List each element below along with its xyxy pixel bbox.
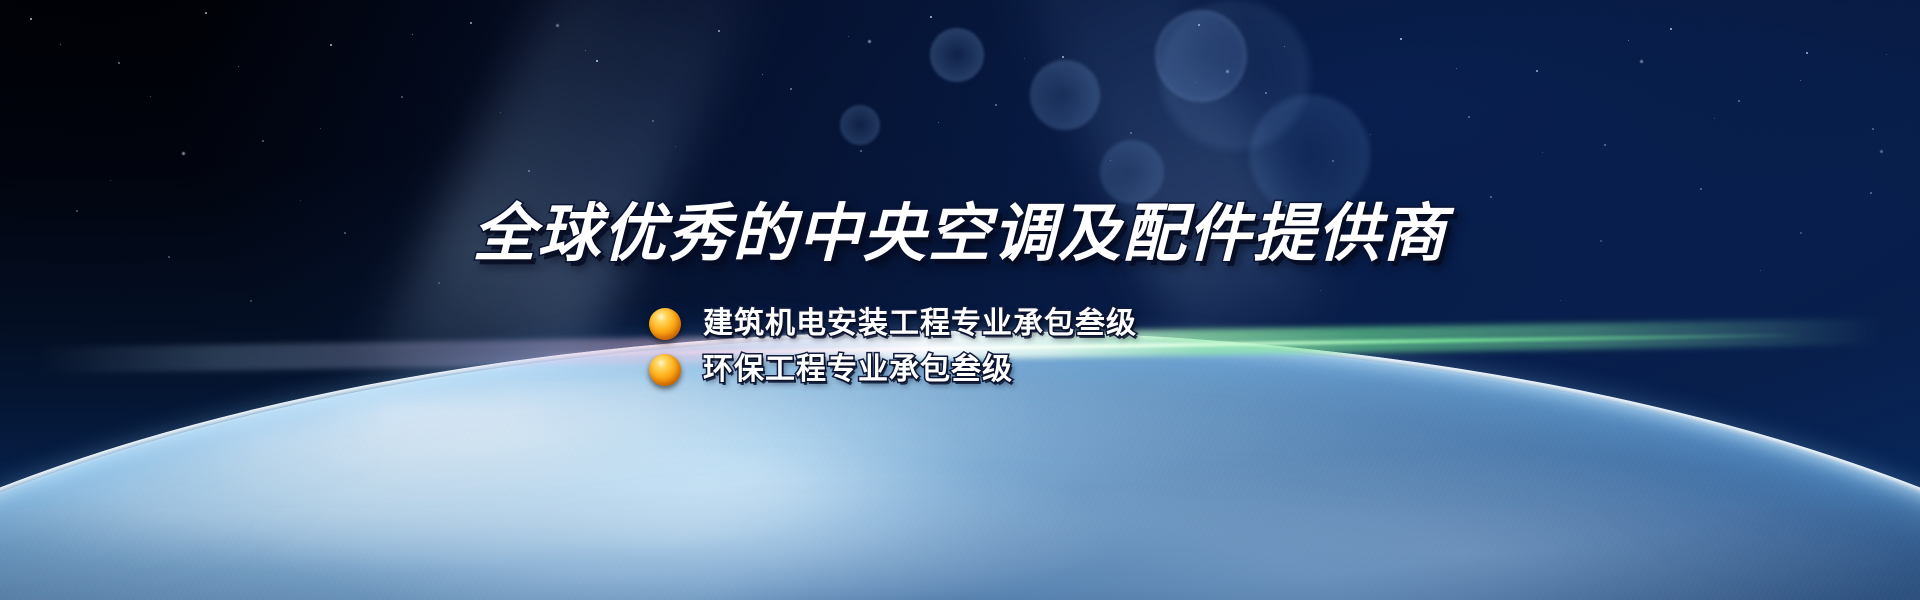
banner-content: 全球优秀的中央空调及配件提供商 建筑机电安装工程专业承包叁级 环保工程专业承包叁… <box>0 0 1920 600</box>
bullet-sphere-icon <box>649 308 681 340</box>
bullet-item-1: 建筑机电安装工程专业承包叁级 <box>649 308 1289 340</box>
banner-bullet-list: 建筑机电安装工程专业承包叁级 环保工程专业承包叁级 <box>0 308 1920 386</box>
bullet-item-label: 建筑机电安装工程专业承包叁级 <box>703 309 1137 339</box>
bullet-item-2: 环保工程专业承包叁级 <box>649 354 1289 386</box>
bullet-item-label: 环保工程专业承包叁级 <box>703 355 1013 385</box>
bullet-sphere-icon <box>649 354 681 386</box>
hero-banner: 全球优秀的中央空调及配件提供商 建筑机电安装工程专业承包叁级 环保工程专业承包叁… <box>0 0 1920 600</box>
banner-headline: 全球优秀的中央空调及配件提供商 <box>0 203 1920 266</box>
